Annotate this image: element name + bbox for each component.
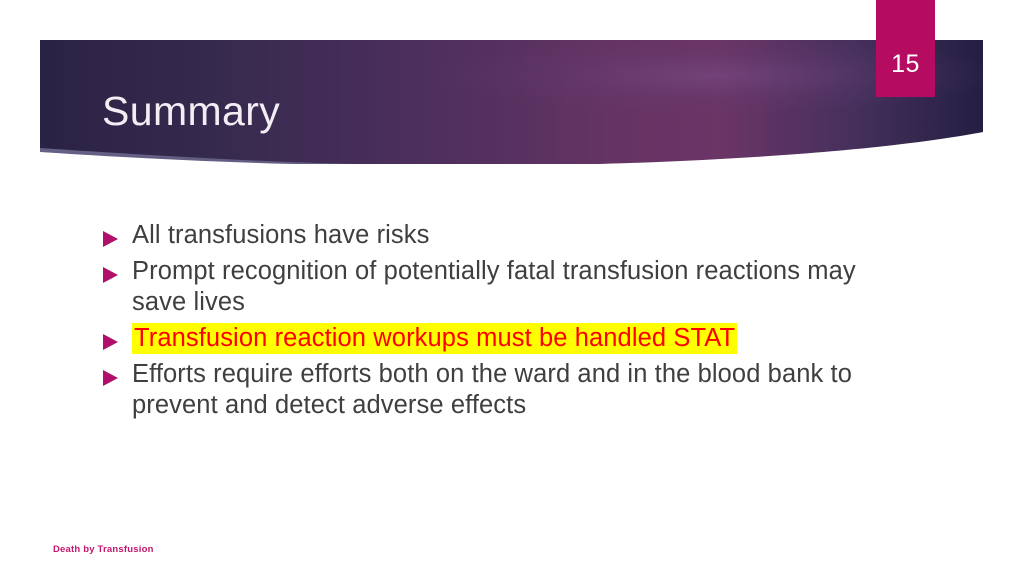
list-item: Efforts require efforts both on the ward… <box>100 359 860 421</box>
page-title: Summary <box>102 86 280 136</box>
page-number-badge: 15 <box>876 0 935 97</box>
triangle-bullet-icon <box>100 323 132 350</box>
list-item-text: All transfusions have risks <box>132 220 860 251</box>
bullet-list: All transfusions have risks Prompt recog… <box>100 220 860 426</box>
page-number-value: 15 <box>876 52 935 77</box>
triangle-bullet-icon <box>100 220 132 247</box>
highlighted-text: Transfusion reaction workups must be han… <box>132 323 737 354</box>
presentation-slide: Summary 15 All transfusions have risks P… <box>0 0 1024 576</box>
list-item-text: Prompt recognition of potentially fatal … <box>132 256 860 318</box>
list-item-text-wrapper: Transfusion reaction workups must be han… <box>132 323 860 354</box>
triangle-bullet-icon <box>100 359 132 386</box>
list-item-highlighted: Transfusion reaction workups must be han… <box>100 323 860 354</box>
list-item-text: Efforts require efforts both on the ward… <box>132 359 860 421</box>
footer-note: Death by Transfusion <box>53 543 154 556</box>
list-item: All transfusions have risks <box>100 220 860 251</box>
triangle-bullet-icon <box>100 256 132 283</box>
list-item: Prompt recognition of potentially fatal … <box>100 256 860 318</box>
